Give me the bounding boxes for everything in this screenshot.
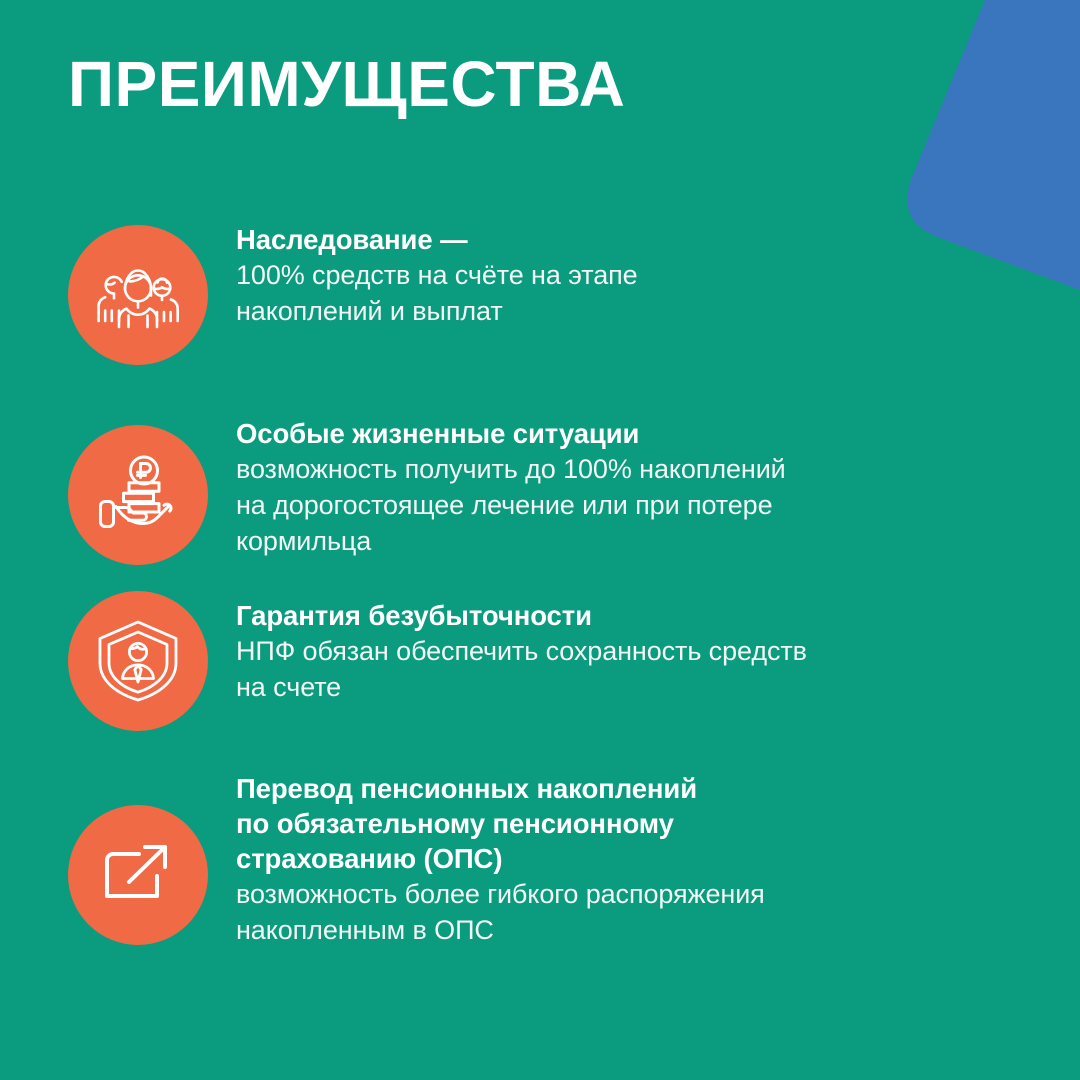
benefit-text: Перевод пенсионных накоплений по обязате…: [236, 764, 935, 949]
benefit-heading: по обязательному пенсионному: [236, 807, 765, 842]
benefit-text: Особые жизненные ситуации возможность по…: [236, 396, 956, 560]
benefit-body-line: накоплений и выплат: [236, 294, 638, 330]
benefit-heading: Особые жизненные ситуации: [236, 417, 786, 452]
benefit-item: Гарантия безубыточности НПФ обязан обесп…: [0, 579, 1080, 764]
benefit-body-line: на дорогостоящее лечение или при потере: [236, 488, 786, 524]
benefit-item: Наследование — 100% средств на счёте на …: [0, 196, 1080, 396]
export-arrow-icon: [68, 805, 208, 945]
benefit-body-line: возможность получить до 100% накоплений: [236, 452, 786, 488]
benefit-heading: Перевод пенсионных накоплений: [236, 772, 765, 807]
benefit-body-line: НПФ обязан обеспечить сохранность средст…: [236, 634, 807, 670]
benefit-body-line: 100% средств на счёте на этапе: [236, 258, 638, 294]
benefit-text: Гарантия безубыточности НПФ обязан обесп…: [236, 579, 977, 706]
benefit-item: Перевод пенсионных накоплений по обязате…: [0, 764, 1080, 984]
benefits-poster: ПРЕИМУЩЕСТВА: [0, 0, 1080, 1080]
shield-with-person-icon: [68, 591, 208, 731]
benefit-heading: Гарантия безубыточности: [236, 599, 807, 634]
benefits-list: Наследование — 100% средств на счёте на …: [0, 196, 1080, 984]
benefit-body-line: на счете: [236, 670, 807, 706]
hand-with-ruble-coins-icon: [68, 425, 208, 565]
benefit-body-line: возможность более гибкого распоряжения: [236, 877, 765, 913]
benefit-text: Наследование — 100% средств на счёте на …: [236, 196, 808, 330]
benefit-body-line: накопленным в ОПС: [236, 913, 765, 949]
benefit-heading: Наследование —: [236, 223, 638, 258]
benefit-heading: страхованию (ОПС): [236, 842, 765, 877]
benefit-item: Особые жизненные ситуации возможность по…: [0, 396, 1080, 579]
family-group-icon: [68, 225, 208, 365]
page-title: ПРЕИМУЩЕСТВА: [68, 52, 625, 116]
benefit-body-line: кормильца: [236, 524, 786, 560]
